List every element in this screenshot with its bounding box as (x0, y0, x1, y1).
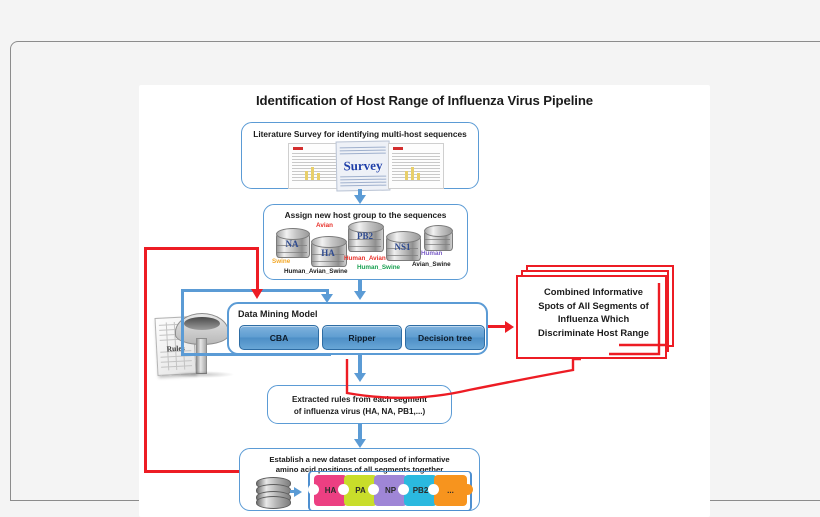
result-line-3: Influenza Which (523, 312, 664, 326)
result-box-text: Combined Informative Spots of All Segmen… (523, 285, 664, 339)
result-line-2: Spots of All Segments of (523, 299, 664, 313)
host-label-human-avian: Human_Avian (344, 255, 386, 262)
puzzle-piece-group: HA PA NP PB2 ... (308, 471, 472, 511)
paper-thumbnail-center: Survey (336, 141, 391, 192)
paper-thumbnail-right (388, 143, 444, 189)
host-label-human-swine: Human_Swine (357, 264, 400, 271)
arrow-model-to-result (505, 321, 514, 333)
pipeline-figure-panel: Identification of Host Range of Influenz… (139, 85, 710, 517)
data-mining-model-title: Data Mining Model (238, 309, 318, 319)
host-label-human: Human (421, 250, 442, 257)
result-line-1: Combined Informative (523, 285, 664, 299)
segment-label-pb2: PB2 (348, 231, 382, 241)
extracted-rules-line2: of influenza virus (HA, NA, PB1,...) (268, 406, 451, 417)
survey-word: Survey (337, 158, 389, 175)
arrow-literature-to-assign (354, 195, 366, 204)
feedback-loop-left (181, 289, 184, 356)
assign-host-group-caption: Assign new host group to the sequences (264, 210, 467, 221)
funnel-stem (196, 338, 207, 374)
puzzle-piece-more: ... (434, 475, 467, 506)
paper-thumbnails: Survey (242, 143, 478, 187)
arrow-assign-to-model (354, 291, 366, 300)
segment-cylinder-ha: HA (311, 236, 345, 267)
segment-label-na: NA (276, 239, 308, 249)
connector-db-to-puzzle (290, 490, 296, 493)
host-label-avian: Avian (316, 222, 333, 229)
host-label-human-avian-swine: Human_Avian_Swine (284, 268, 347, 275)
red-loop-bottom (144, 470, 242, 473)
funnel-shadow (169, 371, 235, 378)
literature-survey-caption: Literature Survey for identifying multi-… (242, 129, 478, 140)
algorithm-button-cba[interactable]: CBA (239, 325, 319, 350)
segment-label-ns1: NS1 (386, 242, 419, 252)
host-label-swine: Swine (272, 258, 290, 265)
assign-host-group-step[interactable]: Assign new host group to the sequences N… (263, 204, 468, 280)
result-line-4: Discriminate Host Range (523, 326, 664, 340)
arrow-extracted-to-establish (354, 439, 366, 448)
establish-dataset-step[interactable]: Establish a new dataset composed of info… (239, 448, 480, 511)
segment-label-ha: HA (311, 248, 345, 258)
literature-survey-step[interactable]: Literature Survey for identifying multi-… (241, 122, 479, 189)
segment-cylinder-pb2: PB2 (348, 221, 382, 252)
red-feedback-into-model (256, 247, 259, 292)
segment-cylinder-extra (424, 225, 451, 250)
result-box-curve (319, 340, 679, 400)
arrow-red-into-model (251, 289, 263, 299)
figure-title: Identification of Host Range of Influenz… (139, 93, 710, 108)
database-icon (256, 477, 289, 507)
host-label-avian-swine: Avian_Swine (412, 261, 451, 268)
segment-cylinder-ns1: NS1 (386, 231, 419, 261)
red-loop-top (144, 247, 259, 250)
red-loop-left (144, 247, 147, 473)
content-card: Identification of Host Range of Influenz… (10, 41, 820, 501)
segment-cylinder-na: NA (276, 228, 308, 258)
